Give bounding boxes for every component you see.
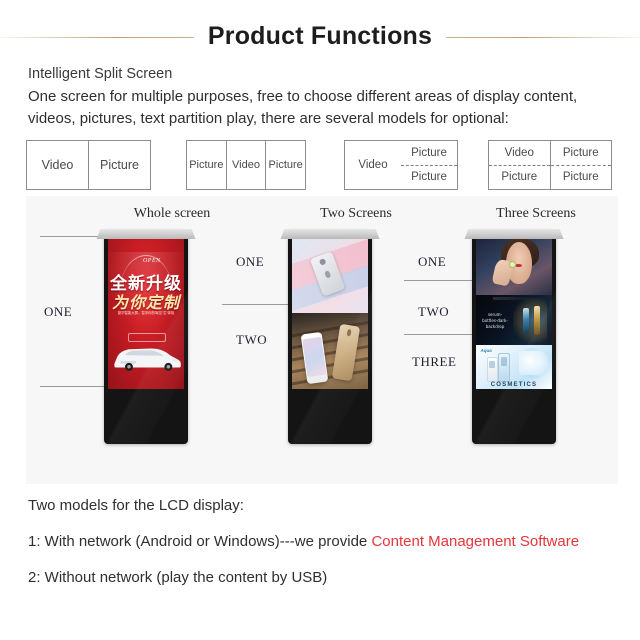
layout-grid-column: Picture Picture — [550, 141, 612, 189]
kiosk-base — [464, 229, 563, 239]
layout-cell: Video — [345, 141, 401, 189]
leader-line — [404, 334, 480, 335]
annotation-two-col3: TWO — [418, 304, 449, 320]
layout-cell: Video — [27, 141, 88, 189]
cosmetics-panel-model — [476, 237, 552, 295]
layout-cell: Picture — [401, 165, 457, 190]
ad-body-cn: 豪华智能大屏，智享你的驾控“芯”体验 — [116, 311, 177, 316]
layout-grid-column: Video Picture — [489, 141, 550, 189]
layout-option-quad-grid[interactable]: Video Picture Picture Picture — [488, 140, 612, 190]
serum-caption-cn: serum-bottles-dark-backdrop — [482, 312, 508, 330]
page-title-row: Product Functions — [0, 14, 640, 58]
product-pack — [519, 351, 545, 375]
layout-cell: Picture — [88, 141, 150, 189]
layout-cell: Video — [226, 141, 266, 189]
serum-bottle-blue — [523, 308, 529, 334]
layout-cell: Picture — [551, 141, 612, 165]
skincare-tube-white — [487, 357, 498, 382]
phone-screen — [303, 336, 326, 376]
bottom-item-1-text: 1: With network (Android or Windows)---w… — [28, 533, 371, 550]
bottom-item-2: 2: Without network (play the content by … — [28, 568, 628, 588]
layout-option-three-pane[interactable]: Picture Video Picture — [186, 140, 306, 190]
cosmetics-panel-serum: serum-bottles-dark-backdrop — [476, 295, 552, 345]
car-advertisement-artwork: OPEN 全新升级 为你定制 豪华智能大屏，智享你的驾控“芯”体验 — [108, 237, 184, 389]
annotation-one-col2: ONE — [236, 254, 264, 270]
cosmetics-panel-skincare: Aqua COSMETICS — [476, 345, 552, 389]
kiwi-slice — [509, 261, 515, 267]
ad-subhead-cn: 为你定制 — [108, 289, 184, 313]
bottom-heading: Two models for the LCD display: — [28, 496, 628, 516]
annotation-two-col2: TWO — [236, 332, 267, 348]
intro-line-1: One screen for multiple purposes, free t… — [28, 86, 618, 108]
phone-panel-top — [292, 237, 368, 313]
annotation-one-col3: ONE — [418, 254, 446, 270]
intro-heading: Intelligent Split Screen — [28, 66, 618, 82]
intro-block: Intelligent Split Screen One screen for … — [28, 66, 618, 130]
kiosk-screen-phone-ad — [292, 237, 368, 389]
layout-cell: Picture — [187, 141, 226, 189]
kiosk-base — [96, 229, 195, 239]
layout-stacked-column: Picture Picture — [401, 141, 457, 189]
kiosk-screen-car-ad: OPEN 全新升级 为你定制 豪华智能大屏，智享你的驾控“芯”体验 — [108, 237, 184, 389]
showcase-title-whole-screen: Whole screen — [92, 206, 252, 222]
title-rule-left — [0, 37, 194, 38]
split-layout-diagrams: Video Picture Picture Video Picture Vide… — [26, 140, 618, 190]
serum-bottle-gold — [534, 306, 540, 335]
bottom-item-1-highlight: Content Management Software — [371, 533, 579, 550]
layout-cell: Picture — [401, 141, 457, 165]
cosmetics-wordmark: COSMETICS — [476, 382, 552, 388]
kiosk-screen-cosmetics-ad: serum-bottles-dark-backdrop Aqua COSMETI… — [476, 237, 552, 389]
cosmetics-advertisement-artwork: serum-bottles-dark-backdrop Aqua COSMETI… — [476, 237, 552, 389]
bottom-item-1: 1: With network (Android or Windows)---w… — [28, 532, 628, 552]
page-title: Product Functions — [194, 22, 446, 51]
ad-script-overlay: OPEN — [143, 258, 161, 264]
white-phone — [301, 332, 329, 385]
showcase-title-two-screens: Two Screens — [276, 206, 436, 222]
sedan-illustration — [110, 324, 183, 385]
product-functions-slide: Product Functions Intelligent Split Scre… — [0, 0, 640, 640]
brand-mark: Aqua — [481, 348, 492, 353]
leader-line — [222, 304, 298, 305]
layout-option-video-left-stacked-right[interactable]: Video Picture Picture — [344, 140, 458, 190]
kiosk-showcase-panel: Whole screen Two Screens Three Screens O… — [26, 196, 618, 484]
annotation-three-col3: THREE — [412, 354, 456, 370]
layout-cell: Picture — [551, 165, 612, 190]
layout-option-two-pane[interactable]: Video Picture — [26, 140, 151, 190]
model-lips — [515, 264, 522, 267]
annotation-one-col1: ONE — [44, 304, 72, 320]
leader-line — [404, 280, 480, 281]
showcase-title-three-screens: Three Screens — [456, 206, 616, 222]
layout-cell: Picture — [265, 141, 305, 189]
serum-glow — [513, 298, 548, 342]
phone-panel-bottom — [292, 313, 368, 389]
intro-line-2: videos, pictures, text partition play, t… — [28, 108, 618, 130]
kiosk-base — [280, 229, 379, 239]
layout-cell: Picture — [489, 165, 550, 190]
title-rule-right — [446, 37, 640, 38]
skincare-tube-blue — [498, 353, 510, 382]
bottom-copy-block: Two models for the LCD display: 1: With … — [28, 496, 628, 604]
layout-cell: Video — [489, 141, 550, 165]
